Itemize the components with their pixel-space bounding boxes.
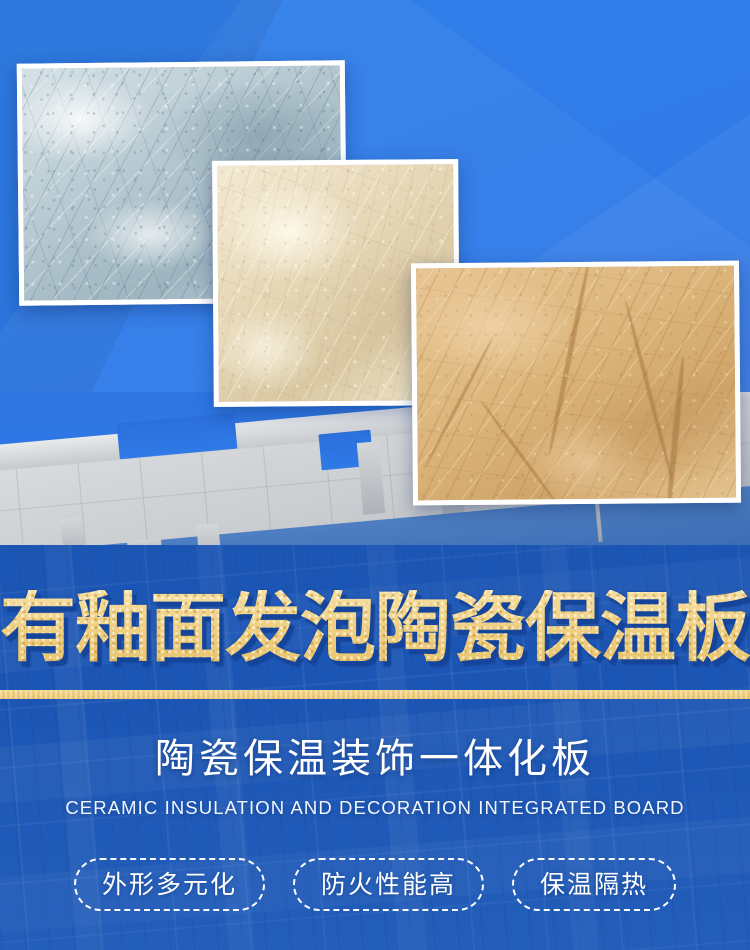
marble-vein [479, 399, 559, 505]
tile-swatch-tan-marble [411, 261, 741, 506]
marble-vein [665, 356, 686, 505]
gold-divider [0, 690, 750, 699]
marble-vein [623, 299, 674, 484]
feature-pill-group: 外形多元化 防火性能高 保温隔热 [0, 858, 750, 911]
subtitle-chinese: 陶瓷保温装饰一体化板 [0, 735, 750, 783]
headline-container: 有釉面发泡陶瓷保温板 [0, 578, 750, 678]
marble-vein [547, 261, 592, 456]
marble-texture-tan [416, 266, 736, 501]
feature-pill-shape-variety[interactable]: 外形多元化 [74, 858, 265, 911]
subtitle-english: CERAMIC INSULATION AND DECORATION INTEGR… [0, 797, 750, 819]
feature-pill-insulation[interactable]: 保温隔热 [512, 858, 676, 911]
product-banner: 有釉面发泡陶瓷保温板 陶瓷保温装饰一体化板 CERAMIC INSULATION… [0, 0, 750, 950]
subtitle-container: 陶瓷保温装饰一体化板 CERAMIC INSULATION AND DECORA… [0, 735, 750, 819]
marble-vein [423, 336, 495, 470]
feature-pill-fire-resistance[interactable]: 防火性能高 [293, 858, 484, 911]
product-headline: 有釉面发泡陶瓷保温板 [0, 590, 750, 666]
